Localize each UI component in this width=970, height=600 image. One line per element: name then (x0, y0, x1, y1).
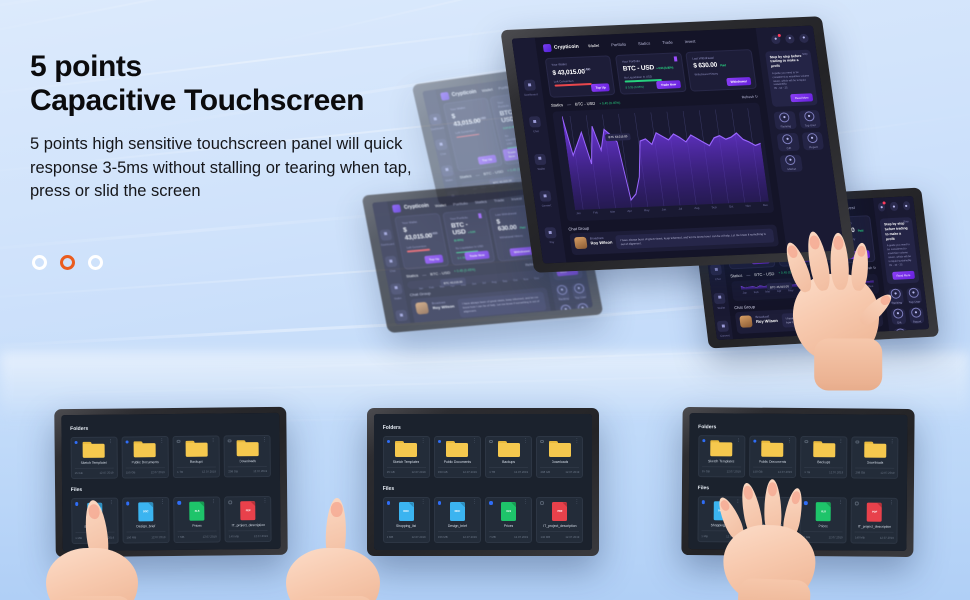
headline-block: 5 points Capacitive Touchscreen 5 points… (30, 50, 430, 203)
folder-meta: 15 GB 12.07.2019 (387, 467, 426, 475)
selection-checkbox[interactable] (387, 501, 391, 505)
folder-cell[interactable]: ⋮ Downloads 298 GB 12.07.2019 (224, 435, 271, 478)
more-options-icon[interactable]: ⋮ (211, 500, 216, 504)
chart-x-label: Feb (593, 210, 598, 214)
rail-item-label: Wallet (537, 167, 545, 171)
chart-x-label: Dec (534, 276, 540, 280)
selection-checkbox[interactable] (805, 440, 809, 444)
stat-card-2[interactable]: Last Withdrawal $ 630.00Paid Withdrawal … (685, 49, 756, 91)
file-cell[interactable]: ⋮ XLS Prices 7 MB 12.07.2019 (173, 497, 220, 543)
panel-tile-ranking[interactable]: ● Ranking (555, 285, 571, 302)
chart-x-label: Nov (856, 285, 861, 289)
pagination-dot-2[interactable] (60, 255, 75, 270)
panel-tile-label: Top User (575, 295, 587, 300)
price-chart[interactable]: BTC 43,015.00 JanFebMarAprMayJunJulAugSe… (731, 273, 879, 301)
file-type-label: XLS (506, 510, 511, 513)
statistics-label: Statics (459, 173, 472, 180)
file-type-label: PDF (872, 511, 877, 514)
chat-section: Chat Group Broadcast Roy Wilson I have a… (734, 298, 883, 335)
logo-icon (392, 205, 402, 214)
more-options-icon[interactable]: ⋮ (838, 501, 843, 505)
more-options-icon[interactable]: ⋮ (574, 439, 579, 443)
file-cell[interactable]: ⋮ DOC Design_brief 156 MB 12.07.2019 (122, 497, 169, 543)
folder-cell[interactable]: ⋮ Downloads 298 GB 12.07.2019 (536, 436, 583, 479)
file-size: 156 MB (752, 535, 762, 539)
stat-card-button[interactable]: Top Up (424, 255, 444, 264)
chart-x-label: Feb (754, 290, 759, 294)
selection-checkbox[interactable] (753, 501, 757, 505)
file-icon: PDF (552, 502, 567, 521)
file-icon: DOC (765, 502, 780, 521)
selection-checkbox[interactable] (804, 501, 808, 505)
file-date: 12.07.2019 (880, 536, 894, 540)
chat-icon: ■ (528, 117, 541, 128)
nav-link-invest[interactable]: Invest (684, 39, 695, 44)
promo-date: 05 - 10 - 25 (889, 263, 913, 268)
chart-x-label: Aug (491, 279, 497, 283)
file-cell[interactable]: ⋮ DOC Shopping_list 1 MB 12.07.2019 (383, 497, 430, 543)
folder-icon (813, 441, 835, 457)
file-cell[interactable]: ⋮ XLS Prices 7 MB 12.07.2019 (485, 497, 532, 543)
chart-x-label: Mar (610, 209, 615, 213)
chart-x-label: Oct (513, 278, 518, 282)
pagination-dots[interactable] (32, 255, 103, 270)
selection-checkbox[interactable] (753, 439, 757, 443)
bottom-tablet-center[interactable]: Folders ⋮ Sketch Templates 15 GB 12.07.2… (367, 408, 599, 556)
folder-cell[interactable]: ⋮ Public Documents 150 GB 12.07.2019 (434, 436, 481, 479)
selection-checkbox[interactable] (177, 440, 181, 444)
file-size: 7 MB (804, 535, 811, 539)
stat-card-1[interactable]: Your Portfolio BTC - USD+ 0.04 (0.45%) N… (443, 209, 496, 266)
file-size: 156 MB (127, 535, 137, 539)
file-date: 12.07.2019 (829, 535, 843, 539)
more-options-icon[interactable]: ⋮ (889, 501, 894, 505)
folder-cell[interactable]: ⋮ Downloads 298 GB 12.07.2019 (851, 436, 898, 479)
stat-card-button[interactable]: Top Up (591, 83, 610, 92)
panel-tiles: ● Ranking ● Top User ● Gift ● Report ● M… (773, 110, 827, 172)
stat-card-1[interactable]: Your Portfolio BTC - USD+ 0.04 (0.45%) N… (615, 52, 686, 94)
brand-name: Crypticoin (404, 203, 430, 211)
notification-icons[interactable]: ●●● (878, 201, 911, 212)
file-type-label: DOC (718, 510, 723, 513)
bottom-tablet-right[interactable]: Folders ⋮ Sketch Templates 15 GB 12.07.2… (681, 407, 914, 557)
chart-x-label: Jun (471, 281, 476, 285)
panel-tile-label: Report (913, 319, 922, 323)
chart-x-label: Jun (661, 207, 666, 211)
nav-link-wallet[interactable]: Wallet (588, 43, 600, 48)
rail-item-label: Dashboard (381, 242, 395, 247)
stat-card-sub: Withdrawal History (499, 233, 530, 240)
file-name: Prices (819, 525, 828, 529)
chart-x-label: Oct (845, 285, 850, 289)
promo-heading: Step by step before trading to make a pr… (769, 53, 808, 69)
gift-icon: ● (892, 308, 903, 318)
panel-tile-label: Gift (897, 320, 902, 324)
folder-meta: 1 TB 12.07.2019 (804, 467, 843, 475)
statistics-pair[interactable]: BTC - USD (575, 101, 596, 107)
brand-logo[interactable]: Crypticoin (440, 88, 477, 101)
chart-x-label: Nov (745, 204, 751, 208)
notification-icons[interactable]: ●●● (763, 33, 809, 44)
selection-checkbox[interactable] (702, 439, 706, 443)
stat-card-button[interactable]: Withdrawal (726, 77, 751, 86)
folder-size: 298 GB (228, 470, 238, 474)
file-name: Prices (192, 524, 201, 528)
file-name: Prices (504, 524, 513, 528)
stat-card-button[interactable]: Top Up (477, 155, 497, 165)
selection-checkbox[interactable] (489, 440, 493, 444)
promo-tag: Step (903, 220, 909, 223)
stat-card-sub: Withdrawal History (694, 70, 748, 76)
selection-checkbox[interactable] (855, 502, 859, 506)
folder-meta: 298 GB 12.07.2019 (540, 467, 579, 475)
card-flag-icon (673, 56, 677, 61)
selection-checkbox[interactable] (702, 501, 706, 505)
promo-body: A guide you need to be considered to max… (772, 70, 811, 87)
notification-badge (778, 33, 781, 36)
file-cell[interactable]: ⋮ DOC Design_brief 156 MB 12.07.2019 (434, 497, 481, 543)
panel-tile-ranking[interactable]: ● Ranking (773, 111, 796, 129)
files-section-title: Files (698, 486, 899, 494)
files-section-title: Files (383, 486, 584, 492)
file-type-label: DOC (92, 511, 97, 514)
more-options-icon[interactable]: ⋮ (211, 438, 216, 442)
selection-checkbox[interactable] (387, 440, 391, 444)
file-cell[interactable]: ⋮ PDF IT_project_description 140 MB 12.0… (851, 498, 898, 544)
more-options-icon[interactable]: ⋮ (787, 439, 792, 443)
nav-link-wallet[interactable]: Wallet (481, 87, 493, 93)
more-options-icon[interactable]: ⋮ (735, 500, 740, 504)
stat-card-button[interactable]: Trade Now (465, 251, 490, 261)
panel-tile-ranking[interactable]: ● Ranking (888, 288, 904, 305)
rail-item-label: Chat (533, 130, 539, 134)
report-icon: ● (910, 307, 921, 317)
statistics-label: Statics (406, 273, 419, 279)
panel-tile-market[interactable]: ● Market (779, 154, 802, 172)
nav-link-trade[interactable]: Trade (493, 197, 504, 203)
more-options-icon[interactable]: ⋮ (523, 500, 528, 504)
folder-size: 15 GB (75, 471, 83, 475)
chat-icon: ■ (384, 256, 397, 268)
settings-icon[interactable]: ● (799, 33, 809, 42)
file-name: IT_project_description (543, 524, 576, 528)
headline-line-2: Capacitive Touchscreen (30, 84, 430, 118)
trophy-icon: ● (573, 283, 585, 294)
folder-icon (185, 441, 207, 457)
panel-tile-top-user[interactable]: ● Top User (572, 283, 588, 300)
folder-icon (134, 441, 156, 457)
nav-link-portfolio[interactable]: Portfolio (453, 200, 469, 206)
folder-name: Downloads (239, 459, 256, 463)
chat-sender: Broadcast Roy Wilson (755, 314, 779, 329)
file-cell[interactable]: ⋮ DOC Design_brief 156 MB 12.07.2019 (748, 497, 795, 543)
file-cell[interactable]: ⋮ XLS Prices 7 MB 12.07.2019 (800, 497, 847, 543)
more-options-icon[interactable]: ⋮ (472, 439, 477, 443)
selection-checkbox[interactable] (856, 440, 860, 444)
file-date: 12.07.2019 (726, 534, 740, 538)
chat-sender-name: Roy Wilson (590, 240, 613, 246)
rail-item-convert[interactable]: ■ Convert (533, 190, 558, 208)
folder-name: Backups (502, 460, 515, 464)
market-icon: ● (895, 328, 906, 338)
panel-tile-gift[interactable]: ● Gift (559, 304, 575, 321)
rail-item-label: Chat (440, 152, 446, 156)
refresh-button[interactable]: Refresh ↻ (741, 94, 758, 99)
stat-card-value: $ 43,015.00USD (451, 109, 487, 128)
file-meta: 7 MB 12.07.2019 (804, 531, 843, 539)
more-options-icon[interactable]: ⋮ (523, 439, 528, 443)
more-options-icon[interactable]: ⋮ (838, 439, 843, 443)
folder-icon (395, 441, 417, 457)
ranking-icon: ● (890, 288, 901, 298)
more-options-icon[interactable]: ⋮ (108, 439, 113, 443)
file-type-label: XLS (195, 510, 200, 513)
more-options-icon[interactable]: ⋮ (421, 500, 426, 504)
panel-tile-top-user[interactable]: ● Top User (798, 110, 821, 128)
stat-card-value: BTC - USD+ 0.04 (0.45%) (622, 63, 677, 72)
folder-icon (236, 440, 258, 456)
stat-cards-row: Your Wallet $ 43,015.00USD Left Conversi… (395, 205, 541, 270)
selection-checkbox[interactable] (126, 440, 130, 444)
avatar (415, 302, 429, 315)
folder-cell[interactable]: ⋮ Backups 1 TB 12.07.2019 (800, 436, 847, 479)
selection-checkbox[interactable] (229, 501, 233, 505)
more-options-icon[interactable]: ⋮ (421, 439, 426, 443)
selection-checkbox[interactable] (489, 501, 493, 505)
panel-tiles: ● Ranking ● Top User ● Gift ● Report ● M… (888, 287, 927, 340)
folder-name: Downloads (867, 460, 884, 464)
settings-icon[interactable]: ● (902, 201, 910, 210)
panel-tile-label: Ranking (780, 124, 791, 128)
card-flag-icon (478, 214, 482, 219)
main-tablet[interactable]: ■ Dashboard ■ Chat ■ Wallet ■ Convert ■ … (500, 16, 855, 273)
more-options-icon[interactable]: ⋮ (159, 439, 164, 443)
chart-svg (562, 108, 769, 210)
nav-link-wallet[interactable]: Wallet (435, 202, 447, 208)
grid-icon: ■ (523, 80, 536, 91)
file-cell[interactable]: ⋮ DOC Shopping_list 1 MB 12.07.2019 (71, 498, 118, 544)
stat-card-sub: No Liquidation In USD (455, 244, 486, 251)
chart-x-label: Oct (729, 204, 734, 208)
ranking-icon: ● (779, 112, 790, 122)
folders-section-title: Folders (383, 425, 584, 431)
file-name: Shopping_list (711, 524, 731, 528)
file-meta: 140 MB 12.07.2019 (540, 531, 579, 539)
selection-checkbox[interactable] (126, 502, 130, 506)
promo-button[interactable]: Read More (892, 271, 915, 280)
rail-item-label: Wallet (717, 306, 725, 310)
brand-logo[interactable]: Crypticoin (392, 202, 429, 213)
folder-meta: 298 GB 12.07.2019 (228, 466, 267, 474)
selection-checkbox[interactable] (438, 501, 442, 505)
nav-link-trade[interactable]: Trade (662, 40, 673, 45)
selection-checkbox[interactable] (438, 440, 442, 444)
statistics-label: Statics (730, 273, 743, 279)
selection-checkbox[interactable] (74, 441, 78, 445)
more-options-icon[interactable]: ⋮ (160, 500, 165, 504)
mail-icon[interactable]: ● (890, 202, 898, 211)
pagination-dot-1[interactable] (32, 255, 47, 270)
file-manager: Folders ⋮ Sketch Templates 15 GB 12.07.2… (688, 413, 907, 551)
chart-x-label: Jan (742, 291, 747, 295)
bell-icon[interactable]: ● (771, 34, 781, 43)
folder-cell[interactable]: ⋮ Sketch Templates 15 GB 12.07.2019 (383, 436, 430, 479)
selection-checkbox[interactable] (540, 501, 544, 505)
bottom-tablet-left[interactable]: Folders ⋮ Sketch Templates 15 GB 12.07.2… (54, 407, 288, 557)
file-name: Shopping_list (84, 525, 104, 529)
folder-date: 12.07.2019 (778, 470, 792, 474)
chart-x-label: Jul (678, 206, 682, 210)
folder-name: Public Documents (444, 460, 471, 464)
folders-grid: ⋮ Sketch Templates 15 GB 12.07.2019 ⋮ Pu… (698, 435, 899, 479)
chart-x-label: Nov (523, 277, 529, 281)
file-date: 12.07.2019 (151, 535, 165, 539)
folder-size: 150 GB (753, 470, 763, 474)
files-grid: ⋮ DOC Shopping_list 1 MB 12.07.2019 ⋮ DO… (697, 497, 898, 544)
statistics-pair[interactable]: BTC - USD (754, 271, 775, 277)
crypto-dashboard: ■ Dashboard ■ Chat ■ Wallet ■ Convert ■ … (512, 26, 845, 264)
panel-tile-top-user[interactable]: ● Top User (906, 287, 922, 304)
folder-name: Sketch Templates (393, 460, 420, 464)
folder-date: 12.07.2019 (514, 470, 528, 474)
rail-item-dashboard[interactable]: ■ Dashboard (517, 79, 542, 97)
file-date: 12.07.2019 (514, 535, 528, 539)
stat-card-button[interactable]: Trade Now (656, 80, 680, 89)
folder-cell[interactable]: ⋮ Public Documents 150 GB 12.07.2019 (749, 435, 796, 478)
folders-grid: ⋮ Sketch Templates 15 GB 12.07.2019 ⋮ Pu… (70, 435, 271, 480)
stat-card-0[interactable]: Your Wallet $ 43,015.00USD Left Conversi… (395, 213, 450, 270)
panel-tile-label: Report (580, 315, 589, 320)
dashboard-nav[interactable]: WalletPortfolioStaticsTradeInvest (588, 36, 750, 48)
folder-icon (446, 441, 468, 457)
panel-tile-label: Top User (909, 299, 921, 304)
file-date: 12.07.2019 (565, 535, 579, 539)
folder-cell[interactable]: ⋮ Public Documents 150 GB 12.07.2019 (121, 436, 168, 479)
more-options-icon[interactable]: ⋮ (787, 500, 792, 504)
file-type-label: PDF (246, 510, 251, 513)
stat-card-sub: Left Conversion (406, 242, 440, 249)
folders-section-title: Folders (70, 424, 271, 432)
pagination-dot-3[interactable] (88, 255, 103, 270)
statistics-change: + 0.45 (0.45%) (454, 268, 476, 274)
convert-icon: ■ (395, 310, 408, 322)
statistics-change: + 0.45 (0.45%) (778, 270, 800, 275)
folder-cell[interactable]: ⋮ Sketch Templates 15 GB 12.07.2019 (698, 435, 745, 478)
promo-tag: Step (802, 52, 808, 55)
folders-section-title: Folders (698, 424, 899, 432)
file-cell[interactable]: ⋮ PDF IT_project_description 140 MB 12.0… (225, 496, 272, 542)
chart-x-label: Dec (868, 284, 873, 288)
folder-date: 12.07.2019 (463, 470, 477, 474)
selection-checkbox[interactable] (228, 439, 232, 443)
folder-icon (762, 441, 784, 457)
file-size: 156 MB (438, 535, 448, 539)
file-type-label: XLS (821, 511, 826, 514)
file-date: 12.07.2019 (777, 535, 791, 539)
chat-sender-name: Roy Wilson (432, 303, 455, 310)
more-options-icon[interactable]: ⋮ (263, 499, 268, 503)
stat-card-value: $ 43,015.00USD (552, 66, 607, 76)
promo-button[interactable]: Read More (790, 94, 813, 103)
panel-tile-report[interactable]: ● Report (801, 132, 824, 150)
promo-card[interactable]: Step Step by step before trading to make… (765, 49, 818, 107)
chart-x-label: Sep (833, 286, 838, 290)
nav-link-statics[interactable]: Statics (474, 199, 487, 205)
more-options-icon[interactable]: ⋮ (574, 500, 579, 504)
file-date: 12.07.2019 (254, 534, 268, 538)
panel-tile-label: Market (787, 167, 796, 171)
files-section-title: Files (71, 485, 272, 493)
statistics-pair[interactable]: BTC - USD (483, 169, 504, 177)
panel-tile-gift[interactable]: ● Gift (776, 133, 799, 151)
price-chart[interactable]: BTC 43,015.00 JanFebMarAprMayJunJulAugSe… (552, 103, 774, 222)
file-cell[interactable]: ⋮ PDF IT_project_description 140 MB 12.0… (536, 497, 583, 543)
panel-tile-report[interactable]: ● Report (575, 303, 591, 320)
file-size: 1 MB (75, 536, 82, 540)
selection-checkbox[interactable] (540, 440, 544, 444)
rail-item-wallet[interactable]: ■ Wallet (528, 153, 553, 171)
pay-icon: ■ (544, 227, 557, 238)
statistics-pair[interactable]: BTC - USD (430, 270, 451, 277)
folder-cell[interactable]: ⋮ Backups 1 TB 12.07.2019 (485, 436, 532, 479)
nav-link-portfolio[interactable]: Portfolio (611, 42, 626, 48)
rail-item-pay[interactable]: ■ Pay (538, 227, 563, 245)
more-options-icon[interactable]: ⋮ (109, 501, 114, 505)
chat-icon: ■ (710, 264, 722, 275)
more-options-icon[interactable]: ⋮ (890, 440, 895, 444)
nav-link-invest[interactable]: Invest (511, 196, 523, 202)
stat-card-value: $ 630.00Paid (693, 60, 748, 69)
file-type-label: PDF (557, 510, 562, 513)
selection-checkbox[interactable] (177, 501, 181, 505)
nav-link-statics[interactable]: Statics (638, 41, 651, 46)
bell-icon[interactable]: ● (878, 203, 886, 212)
folder-size: 298 GB (540, 470, 550, 474)
file-cell[interactable]: ⋮ DOC Shopping_list 1 MB 12.07.2019 (697, 497, 744, 543)
folder-cell[interactable]: ⋮ Backups 1 TB 12.07.2019 (173, 435, 220, 478)
chart-x-label: Jan (418, 286, 423, 290)
file-date: 12.07.2019 (463, 535, 477, 539)
file-meta: 156 MB 12.07.2019 (438, 531, 477, 539)
file-name: IT_project_description (858, 525, 891, 529)
stat-card-sub: No Liquidation In USD (624, 73, 678, 79)
selection-checkbox[interactable] (75, 502, 79, 506)
rail-item-chat[interactable]: ■ Chat (523, 116, 548, 134)
folder-icon (864, 441, 886, 457)
refresh-button[interactable]: Refresh ↻ (860, 266, 877, 271)
panel-tile-report[interactable]: ● Report (908, 307, 924, 324)
panel-tile-market[interactable]: ● Market (562, 324, 578, 325)
file-date: 12.07.2019 (412, 535, 426, 539)
headline-line-1: 5 points (30, 50, 142, 83)
file-size: 1 MB (701, 534, 708, 538)
grid-icon: ■ (379, 229, 392, 241)
mail-icon[interactable]: ● (785, 34, 795, 43)
folder-cell[interactable]: ⋮ Sketch Templates 15 GB 12.07.2019 (70, 436, 117, 479)
more-options-icon[interactable]: ⋮ (262, 438, 267, 442)
folder-size: 1 TB (177, 470, 183, 474)
folder-meta: 298 GB 12.07.2019 (856, 467, 895, 475)
panel-tile-gift[interactable]: ● Gift (890, 308, 906, 325)
file-icon: XLS (189, 502, 204, 521)
promo-card[interactable]: Step Step by step before trading to make… (879, 217, 919, 284)
chart-x-label: Apr (627, 209, 632, 213)
stat-card-0[interactable]: Your Wallet $ 43,015.00USD Left Conversi… (544, 55, 615, 97)
brand-logo[interactable]: Crypticoin (542, 42, 579, 51)
more-options-icon[interactable]: ⋮ (472, 500, 477, 504)
folders-grid: ⋮ Sketch Templates 15 GB 12.07.2019 ⋮ Pu… (383, 436, 584, 479)
more-options-icon[interactable]: ⋮ (736, 438, 741, 442)
